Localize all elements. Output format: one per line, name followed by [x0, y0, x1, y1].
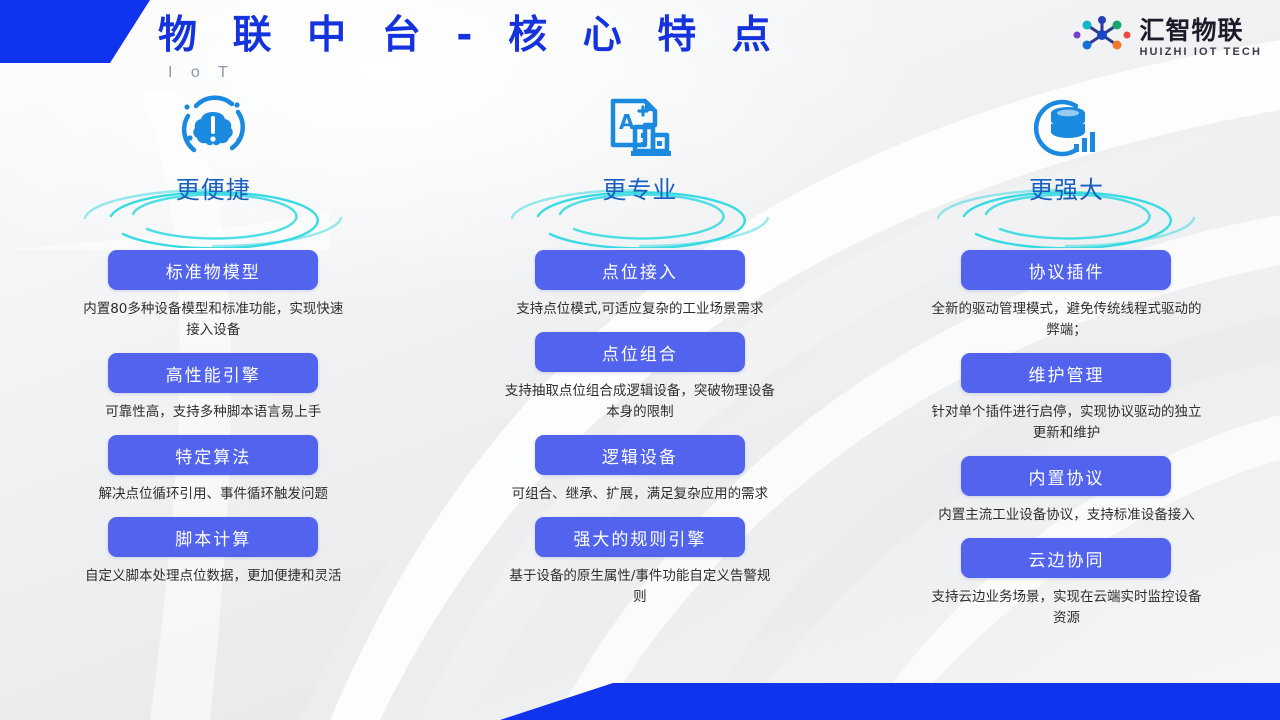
brand-logo: 汇智物联 HUIZHI IOT TECH [1073, 14, 1262, 61]
feature-pill[interactable]: 协议插件 [961, 250, 1171, 290]
feature-item: 维护管理 针对单个插件进行启停，实现协议驱动的独立更新和维护 [853, 353, 1280, 444]
column-1-items: 标准物模型 内置80多种设备模型和标准功能，实现快速接入设备 高性能引擎 可靠性… [0, 250, 427, 599]
bottom-right-decorative-shape [500, 683, 1280, 720]
feature-description: 可靠性高，支持多种脚本语言易上手 [77, 402, 349, 423]
feature-item: 点位接入 支持点位模式,可适应复杂的工业场景需求 [427, 250, 854, 320]
feature-pill[interactable]: 脚本计算 [108, 517, 318, 557]
feature-pill[interactable]: 云边协同 [961, 538, 1171, 578]
feature-description: 支持抽取点位组合成逻辑设备，突破物理设备本身的限制 [504, 381, 776, 423]
column-2-header: 更专业 [427, 164, 854, 244]
document-aplus-building-icon: A [605, 92, 675, 164]
top-left-decorative-shape [0, 0, 150, 63]
slide-canvas: 物 联 中 台 - 核 心 特 点 I o T 汇智物联 HU [0, 0, 1280, 720]
feature-description: 内置80多种设备模型和标准功能，实现快速接入设备 [77, 299, 349, 341]
feature-description: 内置主流工业设备协议，支持标准设备接入 [930, 505, 1202, 526]
feature-item: 内置协议 内置主流工业设备协议，支持标准设备接入 [853, 456, 1280, 526]
page-subtitle: I o T [168, 64, 782, 82]
feature-pill[interactable]: 高性能引擎 [108, 353, 318, 393]
database-chart-icon [1030, 92, 1102, 164]
feature-description: 支持点位模式,可适应复杂的工业场景需求 [504, 299, 776, 320]
feature-pill[interactable]: 逻辑设备 [535, 435, 745, 475]
feature-description: 基于设备的原生属性/事件功能自定义告警规则 [504, 566, 776, 608]
feature-pill[interactable]: 点位组合 [535, 332, 745, 372]
feature-description: 解决点位循环引用、事件循环触发问题 [77, 484, 349, 505]
feature-pill[interactable]: 特定算法 [108, 435, 318, 475]
column-1-header: 更便捷 [0, 164, 427, 244]
column-1-title: 更便捷 [176, 170, 251, 205]
feature-item: 脚本计算 自定义脚本处理点位数据，更加便捷和灵活 [0, 517, 427, 587]
feature-description: 全新的驱动管理模式，避免传统线程式驱动的弊端； [930, 299, 1202, 341]
feature-item: 特定算法 解决点位循环引用、事件循环触发问题 [0, 435, 427, 505]
feature-column-1: 更便捷 标准物模型 内置80多种设备模型和标准功能，实现快速接入设备 高性能引擎… [0, 92, 427, 641]
logo-text-block: 汇智物联 HUIZHI IOT TECH [1139, 18, 1262, 58]
column-3-header: 更强大 [853, 164, 1280, 244]
feature-pill[interactable]: 强大的规则引擎 [535, 517, 745, 557]
feature-item: 高性能引擎 可靠性高，支持多种脚本语言易上手 [0, 353, 427, 423]
feature-column-2: A [427, 92, 854, 641]
feature-item: 点位组合 支持抽取点位组合成逻辑设备，突破物理设备本身的限制 [427, 332, 854, 423]
feature-columns: 更便捷 标准物模型 内置80多种设备模型和标准功能，实现快速接入设备 高性能引擎… [0, 92, 1280, 641]
column-2-title: 更专业 [602, 170, 677, 205]
column-2-items: 点位接入 支持点位模式,可适应复杂的工业场景需求 点位组合 支持抽取点位组合成逻… [427, 250, 854, 620]
feature-item: 强大的规则引擎 基于设备的原生属性/事件功能自定义告警规则 [427, 517, 854, 608]
feature-item: 协议插件 全新的驱动管理模式，避免传统线程式驱动的弊端； [853, 250, 1280, 341]
svg-text:A: A [619, 110, 635, 134]
page-title: 物 联 中 台 - 核 心 特 点 [158, 10, 782, 62]
feature-pill[interactable]: 点位接入 [535, 250, 745, 290]
feature-description: 支持云边业务场景，实现在云端实时监控设备资源 [930, 587, 1202, 629]
feature-description: 可组合、继承、扩展，满足复杂应用的需求 [504, 484, 776, 505]
logo-name-en: HUIZHI IOT TECH [1139, 47, 1262, 58]
feature-item: 逻辑设备 可组合、继承、扩展，满足复杂应用的需求 [427, 435, 854, 505]
feature-column-3: 更强大 协议插件 全新的驱动管理模式，避免传统线程式驱动的弊端； 维护管理 针对… [853, 92, 1280, 641]
feature-pill[interactable]: 标准物模型 [108, 250, 318, 290]
feature-item: 标准物模型 内置80多种设备模型和标准功能，实现快速接入设备 [0, 250, 427, 341]
column-3-title: 更强大 [1029, 170, 1104, 205]
feature-item: 云边协同 支持云边业务场景，实现在云端实时监控设备资源 [853, 538, 1280, 629]
brain-gear-icon [174, 92, 252, 164]
page-title-block: 物 联 中 台 - 核 心 特 点 I o T [158, 10, 782, 82]
molecule-nodes-icon [1073, 14, 1131, 61]
feature-pill[interactable]: 内置协议 [961, 456, 1171, 496]
feature-description: 自定义脚本处理点位数据，更加便捷和灵活 [77, 566, 349, 587]
feature-pill[interactable]: 维护管理 [961, 353, 1171, 393]
column-3-items: 协议插件 全新的驱动管理模式，避免传统线程式驱动的弊端； 维护管理 针对单个插件… [853, 250, 1280, 641]
logo-name-cn: 汇智物联 [1139, 18, 1262, 43]
feature-description: 针对单个插件进行启停，实现协议驱动的独立更新和维护 [930, 402, 1202, 444]
